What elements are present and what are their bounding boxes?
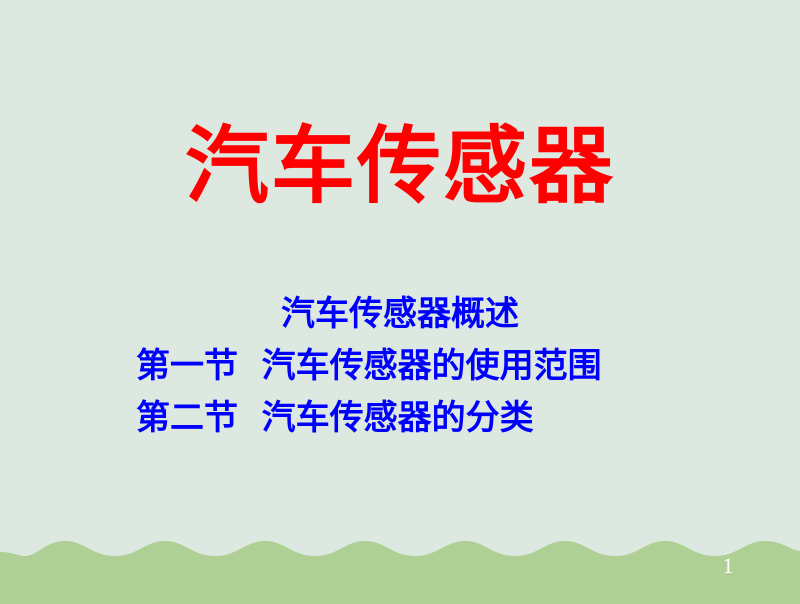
wave-shape-icon: [0, 520, 800, 604]
slide-outline-block: 汽车传感器概述 第一节 汽车传感器的使用范围 第二节 汽车传感器的分类: [0, 288, 800, 444]
wave-decoration: [0, 520, 800, 604]
outline-line-overview: 汽车传感器概述: [0, 288, 800, 340]
slide-number: 1: [714, 552, 742, 580]
outline-line-section-2: 第二节 汽车传感器的分类: [0, 392, 800, 444]
presentation-slide: 汽车传感器 汽车传感器概述 第一节 汽车传感器的使用范围 第二节 汽车传感器的分…: [0, 0, 800, 604]
slide-title: 汽车传感器: [0, 118, 800, 214]
wave-path: [0, 541, 800, 604]
outline-line-section-1: 第一节 汽车传感器的使用范围: [0, 340, 800, 392]
